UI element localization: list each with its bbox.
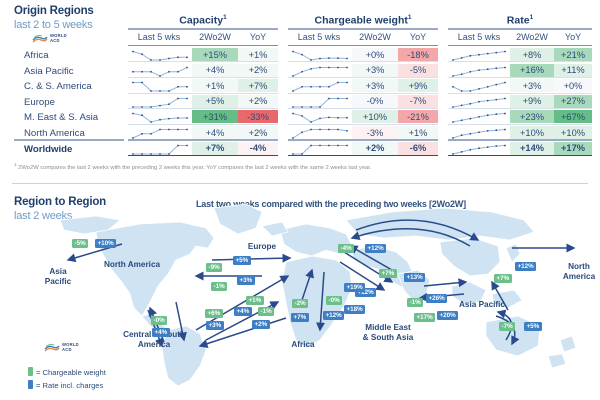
map-chip-c18-rate: +12% <box>323 311 344 320</box>
cell-weight-2wo2w-row5: -3% <box>352 126 398 139</box>
group-header-capacity: Capacity1 <box>128 14 278 27</box>
sparkline-capacity-row5 <box>130 127 190 140</box>
row-label-north-america: North America <box>24 128 85 139</box>
map-label-north-america-west: North America <box>87 260 177 270</box>
cell-capacity-yoy-row1: +2% <box>238 64 278 77</box>
row-separator-capacity-3 <box>128 108 278 109</box>
cell-rate-2wo2w-row3: +9% <box>510 95 554 108</box>
row-separator-rate-1 <box>448 77 592 78</box>
cell-weight-2wo2w-row2: +3% <box>352 79 398 92</box>
logo-text-bottom-line2: ACD <box>62 348 79 353</box>
map-label-middle-east-south-asia: Middle East& South Asia <box>342 323 434 342</box>
map-label-europe: Europe <box>232 242 292 252</box>
sparkline-weight-row2 <box>290 80 350 93</box>
cell-weight-2wo2w-row3: -0% <box>352 95 398 108</box>
table-footnote: 1 2Wo2W compares the last 2 weeks with t… <box>14 162 594 171</box>
group-rule-capacity <box>128 28 278 30</box>
row-separator-rate-2 <box>448 93 592 94</box>
cell-weight-2wo2w-row1: +3% <box>352 64 398 77</box>
map-chip-c06-rate: +3% <box>237 276 255 285</box>
sparkline-weight-row1 <box>290 65 350 78</box>
sparkline-capacity-row2 <box>130 80 190 93</box>
row-label-c-s-america: C. & S. America <box>24 81 92 92</box>
map-label-asia-pacific-west: AsiaPacific <box>28 267 88 286</box>
map-chip-c29-rate: +20% <box>437 311 458 320</box>
header-rule-capacity <box>128 45 278 46</box>
colhead-rate-2wo2w: 2Wo2W <box>510 32 554 42</box>
sparkline-weight-row5 <box>290 127 350 140</box>
page-title: Origin Regions <box>14 5 94 17</box>
origin-regions-section: Origin Regions last 2 to 5 weeks WORLD A… <box>0 0 600 182</box>
row-separator-capacity-4 <box>128 124 278 125</box>
row-separator-weight-2 <box>288 93 438 94</box>
map-chip-c16-rate: +4% <box>152 328 170 337</box>
row-separator-weight-3 <box>288 108 438 109</box>
row-separator-weight-6 <box>288 155 438 156</box>
row-separator-capacity-0 <box>128 61 278 62</box>
sparkline-capacity-row0 <box>130 49 190 62</box>
map-chip-c28-weight: +17% <box>414 313 435 322</box>
colhead-capacity-2wo2w: 2Wo2W <box>192 32 238 42</box>
cell-rate-yoy-row1: +11% <box>554 64 592 77</box>
map-chip-c15-weight: -0% <box>151 316 167 325</box>
cell-weight-2wo2w-row0: +0% <box>352 48 398 61</box>
page-subtitle: last 2 to 5 weeks <box>14 19 93 31</box>
map-label-north-america-east: NorthAmerica <box>558 262 600 281</box>
map-chip-c11-weight: -1% <box>258 307 274 316</box>
colhead-weight-2wo2w: 2Wo2W <box>352 32 398 42</box>
cell-weight-yoy-row4: -21% <box>398 110 438 123</box>
worldacd-mark-icon <box>32 33 48 44</box>
cell-weight-yoy-row6: -6% <box>398 142 438 155</box>
map-chip-c09-rate: +3% <box>206 321 224 330</box>
cell-rate-yoy-row3: +27% <box>554 95 592 108</box>
row-separator-weight-1 <box>288 77 438 78</box>
map-chip-c04-rate: +5% <box>233 256 251 265</box>
map-chip-c14-rate: +7% <box>291 313 309 322</box>
cell-capacity-yoy-row5: +2% <box>238 126 278 139</box>
sparkline-capacity-row6 <box>130 143 190 156</box>
row-label-europe: Europe <box>24 97 55 108</box>
cell-weight-yoy-row3: -7% <box>398 95 438 108</box>
row-separator-weight-4 <box>288 124 438 125</box>
sparkline-capacity-row3 <box>130 96 190 109</box>
map-chip-c08-weight: +6% <box>205 309 223 318</box>
legend-swatch-blue <box>28 380 33 389</box>
map-chip-c22-rate: +13% <box>404 273 425 282</box>
map-chip-c24-rate: +19% <box>344 283 365 292</box>
sparkline-weight-row6 <box>290 143 350 156</box>
cell-rate-yoy-row5: +10% <box>554 126 592 139</box>
worldacd-logo-bottom: WORLD ACD <box>44 342 79 353</box>
cell-capacity-2wo2w-row3: +5% <box>192 95 238 108</box>
colhead-weight-yoy: YoY <box>398 32 438 42</box>
sparkline-rate-row2 <box>450 80 508 93</box>
cell-weight-yoy-row5: +1% <box>398 126 438 139</box>
cell-rate-yoy-row6: +17% <box>554 142 592 155</box>
row-label-asia-pacific: Asia Pacific <box>24 66 74 77</box>
sparkline-rate-row0 <box>450 49 508 62</box>
cell-weight-2wo2w-row6: +2% <box>352 142 398 155</box>
worldwide-divider <box>14 139 124 141</box>
map-chip-c01-weight: -5% <box>72 239 88 248</box>
cell-capacity-yoy-row2: +7% <box>238 79 278 92</box>
cell-rate-2wo2w-row5: +10% <box>510 126 554 139</box>
cell-capacity-2wo2w-row1: +4% <box>192 64 238 77</box>
colhead-rate-last5: Last 5 wks <box>448 32 510 42</box>
map-legend: = Chargeable weight = Rate incl. charges <box>28 367 106 393</box>
group-header-chargeable-weight: Chargeable weight1 <box>288 14 438 27</box>
cell-rate-yoy-row2: +0% <box>554 79 592 92</box>
map-chip-c05-weight: -1% <box>211 282 227 291</box>
cell-capacity-2wo2w-row4: +31% <box>192 110 238 123</box>
row-separator-capacity-6 <box>128 155 278 156</box>
sparkline-weight-row4 <box>290 111 350 124</box>
map-chip-c17-weight: -0% <box>326 296 342 305</box>
sparkline-capacity-row1 <box>130 65 190 78</box>
colhead-rate-yoy: YoY <box>554 32 592 42</box>
map-chip-c31-rate: +12% <box>515 262 536 271</box>
row-separator-rate-6 <box>448 155 592 156</box>
cell-capacity-yoy-row6: -4% <box>238 142 278 155</box>
row-separator-capacity-1 <box>128 77 278 78</box>
map-chip-c02-rate: +10% <box>95 239 116 248</box>
row-label-m-east-s-asia: M. East & S. Asia <box>24 112 98 123</box>
group-rule-rate <box>448 28 592 30</box>
row-label-africa: Africa <box>24 50 49 61</box>
cell-weight-yoy-row1: -5% <box>398 64 438 77</box>
row-separator-capacity-2 <box>128 93 278 94</box>
map-chip-c30-weight: +7% <box>494 274 512 283</box>
colhead-capacity-yoy: YoY <box>238 32 278 42</box>
map-chip-c19-weight: -4% <box>338 244 354 253</box>
cell-weight-2wo2w-row4: +10% <box>352 110 398 123</box>
header-rule-rate <box>448 45 592 46</box>
cell-weight-yoy-row0: -18% <box>398 48 438 61</box>
row-separator-rate-4 <box>448 124 592 125</box>
map-chip-c13-weight: -2% <box>292 299 308 308</box>
colhead-weight-last5: Last 5 wks <box>288 32 350 42</box>
sparkline-rate-row6 <box>450 143 508 156</box>
row-separator-rate-0 <box>448 61 592 62</box>
sparkline-weight-row3 <box>290 96 350 109</box>
map-chip-c32-weight: -7% <box>499 322 515 331</box>
cell-capacity-2wo2w-row0: +15% <box>192 48 238 61</box>
cell-rate-yoy-row0: +21% <box>554 48 592 61</box>
section-divider <box>12 183 588 184</box>
cell-rate-2wo2w-row0: +8% <box>510 48 554 61</box>
sparkline-rate-row5 <box>450 127 508 140</box>
cell-weight-yoy-row2: +9% <box>398 79 438 92</box>
cell-capacity-yoy-row4: -33% <box>238 110 278 123</box>
group-rule-weight <box>288 28 438 30</box>
cell-rate-2wo2w-row2: +3% <box>510 79 554 92</box>
map-chip-c12-rate: +2% <box>252 320 270 329</box>
cell-capacity-2wo2w-row2: +1% <box>192 79 238 92</box>
cell-capacity-yoy-row3: +2% <box>238 95 278 108</box>
map-chip-c25-rate: +18% <box>344 305 365 314</box>
sparkline-rate-row3 <box>450 96 508 109</box>
map-chip-c21-weight: +7% <box>379 269 397 278</box>
cell-rate-2wo2w-row6: +14% <box>510 142 554 155</box>
cell-capacity-2wo2w-row6: +7% <box>192 142 238 155</box>
sparkline-weight-row0 <box>290 49 350 62</box>
cell-capacity-2wo2w-row5: +4% <box>192 126 238 139</box>
legend-swatch-green <box>28 367 33 376</box>
cell-rate-yoy-row4: +67% <box>554 110 592 123</box>
sparkline-rate-row1 <box>450 65 508 78</box>
map-label-africa: Africa <box>278 340 328 350</box>
row-label-worldwide: Worldwide <box>24 144 72 155</box>
map-chip-c26-weight: -1% <box>407 298 423 307</box>
map-chip-c07-weight: +1% <box>246 296 264 305</box>
map-label-asia-pacific-east: Asia Pacific <box>444 300 520 310</box>
legend-item-chargeable-weight: = Chargeable weight <box>28 367 106 377</box>
map-chip-c10-rate: +4% <box>234 307 252 316</box>
sparkline-capacity-row4 <box>130 111 190 124</box>
map-chip-c20-rate: +12% <box>365 244 386 253</box>
map-chip-c33-rate: +5% <box>524 322 542 331</box>
map-chip-c03-weight: -9% <box>206 263 222 272</box>
colhead-capacity-last5: Last 5 wks <box>128 32 190 42</box>
map-chip-c27-rate: +26% <box>426 294 447 303</box>
logo-text-line2: ACD <box>50 39 67 44</box>
cell-rate-2wo2w-row1: +16% <box>510 64 554 77</box>
worldacd-logo-top: WORLD ACD <box>32 33 67 44</box>
group-header-rate: Rate1 <box>448 14 592 27</box>
worldacd-mark-icon-bottom <box>44 342 60 353</box>
legend-item-rate: = Rate incl. charges <box>28 380 106 390</box>
region-to-region-section: Region to Region last 2 weeks Last two w… <box>0 190 600 400</box>
row-separator-weight-0 <box>288 61 438 62</box>
sparkline-rate-row4 <box>450 111 508 124</box>
row-separator-rate-3 <box>448 108 592 109</box>
cell-rate-2wo2w-row4: +23% <box>510 110 554 123</box>
cell-capacity-yoy-row0: +1% <box>238 48 278 61</box>
header-rule-weight <box>288 45 438 46</box>
